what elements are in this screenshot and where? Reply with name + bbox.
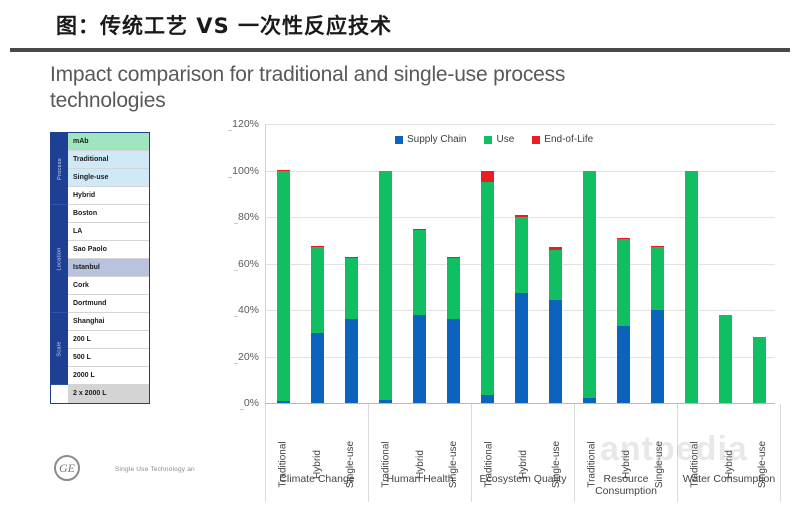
stacked-bar[interactable] (742, 124, 776, 403)
parameter-matrix: ProcessLocationScale mAbTraditionalSingl… (50, 132, 150, 404)
x-axis-tick-text: Single-use (655, 441, 666, 488)
slide-page: 图：传统工艺 VS 一次性反应技术 Impact comparison for … (0, 0, 800, 516)
y-axis-tick-label: 80% (238, 211, 259, 223)
x-axis-tick-label: Traditional (472, 404, 506, 470)
title-divider (10, 48, 790, 52)
matrix-row[interactable]: Sao Paolo (68, 241, 149, 259)
bar-groups (266, 124, 775, 403)
bar-segment-use[interactable] (345, 258, 358, 320)
y-axis-tick-label: 100% (232, 165, 259, 177)
footer-text: Single Use Technology an (115, 466, 195, 473)
stacked-bar[interactable] (266, 124, 300, 403)
axis-category: TraditionalHybridSingle-useResource Cons… (575, 404, 678, 502)
x-axis-tick-label: Hybrid (712, 404, 746, 470)
bar-segment-use[interactable] (583, 171, 596, 398)
bar-segment-use[interactable] (515, 217, 528, 293)
stacked-bar[interactable] (470, 124, 504, 403)
axis-category: TraditionalHybridSingle-useHuman Health (369, 404, 472, 502)
x-axis-tick-text: Single-use (758, 441, 769, 488)
matrix-row[interactable]: Dortmund (68, 295, 149, 313)
bar-segment-use[interactable] (617, 239, 630, 326)
x-axis-tick-label: Traditional (678, 404, 712, 470)
matrix-row[interactable]: 2 x 2000 L (68, 385, 149, 403)
x-axis-tick-text: Hybrid (312, 450, 323, 479)
axis-category: TraditionalHybridSingle-useEcosystem Qua… (472, 404, 575, 502)
bar-segment-supply-chain[interactable] (277, 401, 290, 403)
x-axis-tick-text: Hybrid (621, 450, 632, 479)
y-axis-tick-mark (228, 177, 232, 178)
matrix-row[interactable]: 2000 L (68, 367, 149, 385)
bar-segment-use[interactable] (719, 315, 732, 403)
y-axis-tick-label: 120% (232, 118, 259, 130)
ge-logo-icon: GE (54, 455, 80, 481)
x-axis-tick-text: Traditional (587, 441, 598, 487)
page-title-chinese: 图：传统工艺 VS 一次性反应技术 (56, 10, 392, 40)
stacked-bar[interactable] (368, 124, 402, 403)
bar-segment-supply-chain[interactable] (617, 326, 630, 403)
matrix-row[interactable]: mAb (68, 133, 149, 151)
y-axis-tick-mark (234, 316, 238, 317)
axis-subcategory-ticks: TraditionalHybridSingle-use (575, 404, 677, 470)
matrix-row[interactable]: 500 L (68, 349, 149, 367)
x-axis-tick-text: Traditional (690, 441, 701, 487)
x-axis-tick-label: Traditional (369, 404, 403, 470)
y-axis-tick-label: 0% (244, 397, 259, 409)
axis-subcategory-ticks: TraditionalHybridSingle-use (266, 404, 368, 470)
bar-segment-use[interactable] (481, 182, 494, 395)
bar-group (368, 124, 470, 403)
y-axis-tick-mark (234, 223, 238, 224)
matrix-row[interactable]: 200 L (68, 331, 149, 349)
axis-category: TraditionalHybridSingle-useClimate Chang… (265, 404, 369, 502)
stacked-bar-chart: Supply ChainUseEnd-of-Life 0%20%40%60%80… (215, 112, 790, 502)
x-axis-tick-label: Single-use (334, 404, 368, 470)
y-axis-tick-label: 20% (238, 351, 259, 363)
bar-segment-use[interactable] (277, 171, 290, 401)
y-axis-tick-label: 60% (238, 258, 259, 270)
x-axis-tick-label: Hybrid (609, 404, 643, 470)
matrix-group-column: ProcessLocationScale (51, 133, 68, 403)
x-axis-tick-label: Single-use (540, 404, 574, 470)
bar-segment-use[interactable] (311, 247, 324, 333)
axis-category: TraditionalHybridSingle-useWater Consump… (678, 404, 781, 502)
bar-segment-use[interactable] (651, 247, 664, 310)
bar-segment-supply-chain[interactable] (651, 310, 664, 403)
matrix-group-scale: Scale (51, 313, 68, 385)
category-axis: TraditionalHybridSingle-useClimate Chang… (265, 404, 775, 502)
bar-segment-supply-chain[interactable] (515, 293, 528, 403)
matrix-row[interactable]: LA (68, 223, 149, 241)
x-axis-tick-text: Hybrid (415, 450, 426, 479)
x-axis-tick-label: Single-use (437, 404, 471, 470)
matrix-row-column: mAbTraditionalSingle-useHybridBostonLASa… (68, 133, 149, 403)
x-axis-tick-label: Hybrid (506, 404, 540, 470)
matrix-group-label: Location (57, 247, 63, 270)
x-axis-tick-text: Hybrid (724, 450, 735, 479)
axis-subcategory-ticks: TraditionalHybridSingle-use (369, 404, 471, 470)
bar-group (572, 124, 674, 403)
x-axis-tick-text: Hybrid (518, 450, 529, 479)
bar-segment-supply-chain[interactable] (413, 315, 426, 403)
matrix-row[interactable]: Shanghai (68, 313, 149, 331)
bar-group (674, 124, 776, 403)
x-axis-tick-label: Single-use (643, 404, 677, 470)
y-axis-tick-mark (234, 270, 238, 271)
bar-segment-use[interactable] (413, 230, 426, 315)
y-axis-tick-mark (234, 363, 238, 364)
x-axis-tick-label: Hybrid (403, 404, 437, 470)
matrix-row[interactable]: Traditional (68, 151, 149, 169)
bar-segment-use[interactable] (379, 171, 392, 399)
bar-segment-supply-chain[interactable] (583, 398, 596, 403)
stacked-bar[interactable] (708, 124, 742, 403)
matrix-row[interactable]: Single-use (68, 169, 149, 187)
stacked-bar[interactable] (572, 124, 606, 403)
x-axis-tick-text: Traditional (484, 441, 495, 487)
y-axis-tick-mark (228, 130, 232, 131)
matrix-group-location: Location (51, 205, 68, 313)
matrix-row[interactable]: Cork (68, 277, 149, 295)
stacked-bar[interactable] (674, 124, 708, 403)
x-axis-tick-text: Traditional (381, 441, 392, 487)
bar-segment-supply-chain[interactable] (447, 319, 460, 403)
matrix-row[interactable]: Boston (68, 205, 149, 223)
bar-segment-supply-chain[interactable] (481, 395, 494, 403)
axis-subcategory-ticks: TraditionalHybridSingle-use (472, 404, 574, 470)
y-axis-tick-label: 40% (238, 304, 259, 316)
stacked-bar[interactable] (300, 124, 334, 403)
stacked-bar[interactable] (606, 124, 640, 403)
x-axis-tick-text: Single-use (449, 441, 460, 488)
stacked-bar[interactable] (402, 124, 436, 403)
bar-segment-supply-chain[interactable] (379, 400, 392, 403)
bar-segment-end-of-life[interactable] (481, 171, 494, 183)
stacked-bar[interactable] (538, 124, 572, 403)
matrix-group-label: Scale (56, 341, 62, 356)
stacked-bar[interactable] (504, 124, 538, 403)
x-axis-tick-label: Traditional (266, 404, 300, 470)
bar-segment-supply-chain[interactable] (549, 300, 562, 403)
x-axis-tick-label: Traditional (575, 404, 609, 470)
bar-segment-use[interactable] (447, 258, 460, 320)
x-axis-tick-text: Traditional (278, 441, 289, 487)
x-axis-tick-label: Single-use (746, 404, 780, 470)
x-axis-tick-text: Single-use (552, 441, 563, 488)
bar-segment-supply-chain[interactable] (311, 333, 324, 403)
plot-area: 0%20%40%60%80%100%120% (265, 124, 775, 404)
matrix-row[interactable]: Hybrid (68, 187, 149, 205)
stacked-bar[interactable] (334, 124, 368, 403)
bar-segment-use[interactable] (685, 171, 698, 403)
stacked-bar[interactable] (640, 124, 674, 403)
x-axis-tick-label: Hybrid (300, 404, 334, 470)
bar-group (470, 124, 572, 403)
bar-segment-supply-chain[interactable] (345, 319, 358, 403)
stacked-bar[interactable] (436, 124, 470, 403)
axis-subcategory-ticks: TraditionalHybridSingle-use (678, 404, 780, 470)
matrix-group-label: Process (57, 158, 63, 180)
bar-group (266, 124, 368, 403)
matrix-group-process: Process (51, 133, 68, 205)
y-axis-tick-mark (240, 409, 244, 410)
bar-segment-use[interactable] (753, 337, 766, 403)
x-axis-tick-text: Single-use (346, 441, 357, 488)
chart-title: Impact comparison for traditional and si… (50, 62, 610, 114)
bar-segment-use[interactable] (549, 250, 562, 300)
matrix-row[interactable]: Istanbul (68, 259, 149, 277)
